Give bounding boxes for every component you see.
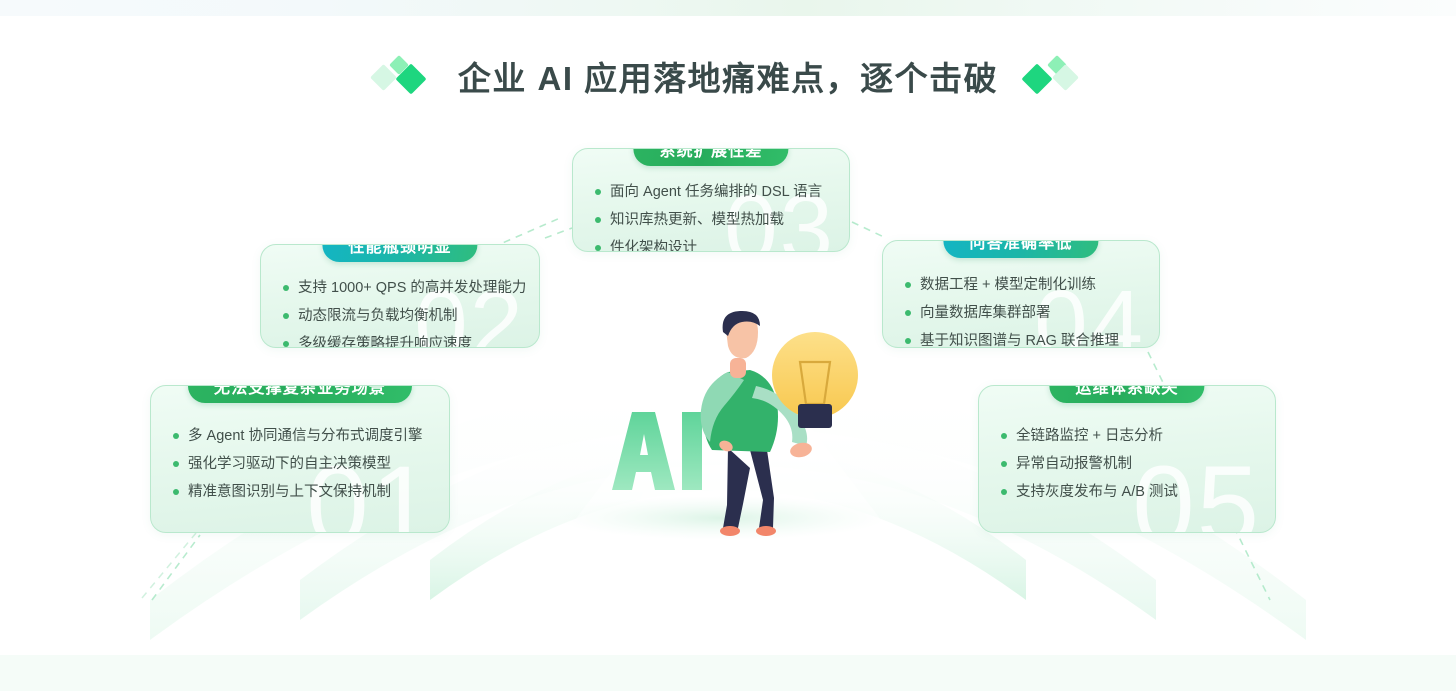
bullet-dot-icon bbox=[905, 310, 911, 316]
bullet-text: 异常自动报警机制 bbox=[1016, 454, 1132, 474]
pain-point-card-04[interactable]: 问答准确率低 04 数据工程 + 模型定制化训练 向量数据库集群部署 基于知识图… bbox=[882, 240, 1160, 348]
bullet-dot-icon bbox=[905, 282, 911, 288]
card-bullet-list: 面向 Agent 任务编排的 DSL 语言 知识库热更新、模型热加载 件化架构设… bbox=[573, 182, 849, 252]
bullet-text: 支持 1000+ QPS 的高并发处理能力 bbox=[298, 278, 526, 298]
page-title: 企业 AI 应用落地痛难点，逐个击破 bbox=[458, 52, 998, 100]
bullet-text: 多级缓存策略提升响应速度 bbox=[298, 334, 472, 348]
bullet-dot-icon bbox=[173, 461, 179, 467]
list-item: 多级缓存策略提升响应速度 bbox=[283, 334, 519, 348]
bullet-text: 件化架构设计 bbox=[610, 238, 697, 252]
list-item: 件化架构设计 bbox=[595, 238, 829, 252]
bullet-dot-icon bbox=[905, 338, 911, 344]
list-item: 强化学习驱动下的自主决策模型 bbox=[173, 454, 429, 474]
list-item: 数据工程 + 模型定制化训练 bbox=[905, 275, 1139, 295]
title-decoration-right bbox=[1024, 56, 1082, 96]
card-title-badge: 性能瓶颈明显 bbox=[322, 244, 477, 262]
list-item: 支持灰度发布与 A/B 测试 bbox=[1001, 482, 1255, 502]
bullet-text: 多 Agent 协同通信与分布式调度引擎 bbox=[188, 426, 422, 446]
list-item: 多 Agent 协同通信与分布式调度引擎 bbox=[173, 426, 429, 446]
bullet-dot-icon bbox=[1001, 433, 1007, 439]
list-item: 精准意图识别与上下文保持机制 bbox=[173, 482, 429, 502]
bullet-text: 动态限流与负载均衡机制 bbox=[298, 306, 458, 326]
background-decoration bbox=[0, 0, 1456, 691]
pain-point-card-05[interactable]: 运维体系缺失 05 全链路监控 + 日志分析 异常自动报警机制 支持灰度发布与 … bbox=[978, 385, 1276, 533]
top-accent-band bbox=[0, 0, 1456, 16]
bullet-text: 基于知识图谱与 RAG 联合推理 bbox=[920, 331, 1119, 348]
connector-lines bbox=[0, 0, 1456, 691]
card-bullet-list: 数据工程 + 模型定制化训练 向量数据库集群部署 基于知识图谱与 RAG 联合推… bbox=[883, 275, 1159, 348]
bullet-text: 支持灰度发布与 A/B 测试 bbox=[1016, 482, 1178, 502]
bullet-dot-icon bbox=[173, 489, 179, 495]
bullet-dot-icon bbox=[1001, 489, 1007, 495]
lightbulb-icon bbox=[772, 332, 858, 428]
bullet-text: 面向 Agent 任务编排的 DSL 语言 bbox=[610, 182, 822, 202]
person-figure bbox=[701, 311, 814, 536]
bullet-dot-icon bbox=[595, 217, 601, 223]
bottom-accent-band bbox=[0, 655, 1456, 691]
bullet-dot-icon bbox=[173, 433, 179, 439]
bullet-text: 精准意图识别与上下文保持机制 bbox=[188, 482, 391, 502]
card-bullet-list: 支持 1000+ QPS 的高并发处理能力 动态限流与负载均衡机制 多级缓存策略… bbox=[261, 278, 539, 348]
bullet-text: 数据工程 + 模型定制化训练 bbox=[920, 275, 1096, 295]
bullet-text: 全链路监控 + 日志分析 bbox=[1016, 426, 1163, 446]
card-title-badge: 问答准确率低 bbox=[943, 240, 1098, 258]
list-item: 动态限流与负载均衡机制 bbox=[283, 306, 519, 326]
bullet-dot-icon bbox=[595, 189, 601, 195]
list-item: 全链路监控 + 日志分析 bbox=[1001, 426, 1255, 446]
pain-point-card-02[interactable]: 性能瓶颈明显 02 支持 1000+ QPS 的高并发处理能力 动态限流与负载均… bbox=[260, 244, 540, 348]
list-item: 基于知识图谱与 RAG 联合推理 bbox=[905, 331, 1139, 348]
card-title-badge: 无法支撑复杂业务场景 bbox=[188, 385, 412, 403]
bullet-dot-icon bbox=[595, 245, 601, 251]
list-item: 异常自动报警机制 bbox=[1001, 454, 1255, 474]
card-bullet-list: 全链路监控 + 日志分析 异常自动报警机制 支持灰度发布与 A/B 测试 bbox=[979, 426, 1275, 502]
bullet-dot-icon bbox=[283, 285, 289, 291]
ai-letters bbox=[612, 412, 702, 490]
list-item: 知识库热更新、模型热加载 bbox=[595, 210, 829, 230]
bullet-dot-icon bbox=[283, 341, 289, 347]
page-title-row: 企业 AI 应用落地痛难点，逐个击破 bbox=[0, 50, 1456, 102]
title-decoration-left bbox=[374, 56, 432, 96]
card-title-badge: 运维体系缺失 bbox=[1049, 385, 1204, 403]
bullet-text: 强化学习驱动下的自主决策模型 bbox=[188, 454, 391, 474]
list-item: 面向 Agent 任务编排的 DSL 语言 bbox=[595, 182, 829, 202]
card-bullet-list: 多 Agent 协同通信与分布式调度引擎 强化学习驱动下的自主决策模型 精准意图… bbox=[151, 426, 449, 502]
bullet-dot-icon bbox=[283, 313, 289, 319]
bullet-text: 知识库热更新、模型热加载 bbox=[610, 210, 784, 230]
bullet-dot-icon bbox=[1001, 461, 1007, 467]
ai-illustration bbox=[560, 300, 890, 550]
pain-point-card-03[interactable]: 系统扩展性差 03 面向 Agent 任务编排的 DSL 语言 知识库热更新、模… bbox=[572, 148, 850, 252]
list-item: 支持 1000+ QPS 的高并发处理能力 bbox=[283, 278, 519, 298]
diamond-shape bbox=[1022, 63, 1053, 94]
pain-point-card-01[interactable]: 无法支撑复杂业务场景 01 多 Agent 协同通信与分布式调度引擎 强化学习驱… bbox=[150, 385, 450, 533]
card-title-badge: 系统扩展性差 bbox=[633, 148, 788, 166]
list-item: 向量数据库集群部署 bbox=[905, 303, 1139, 323]
bullet-text: 向量数据库集群部署 bbox=[920, 303, 1051, 323]
